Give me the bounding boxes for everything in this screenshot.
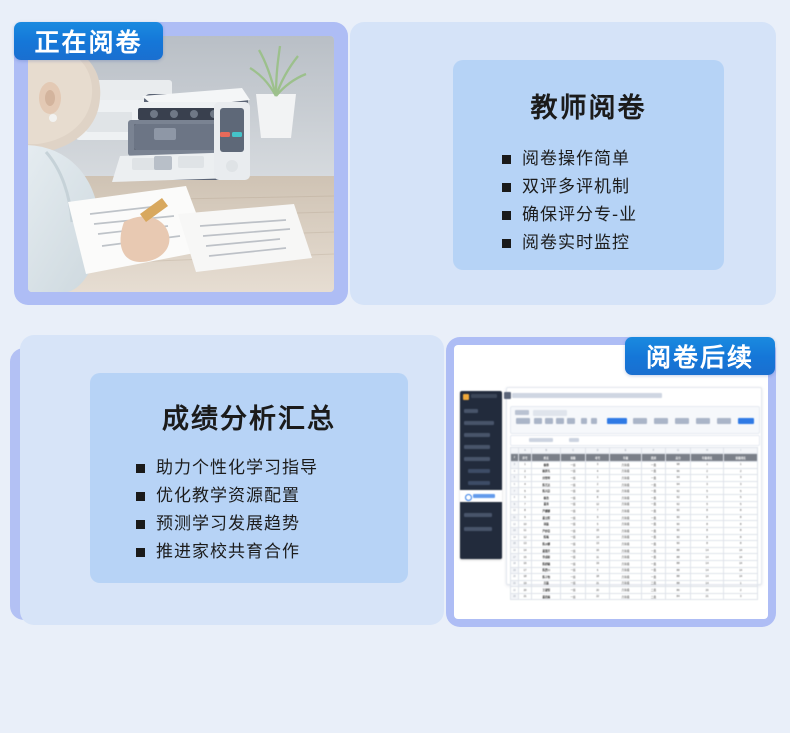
list-item-label: 预测学习发展趋势 [156,512,300,537]
table-cell[interactable]: 15 [585,527,610,534]
table-row: 1311芦妙曼一班15六年级一类9088 [511,527,758,534]
table-cell[interactable]: 六年级 [610,527,641,534]
table-row: 1513陈沙娜一班13六年级一类9088 [511,541,758,548]
table-cell[interactable]: 1 [585,475,610,482]
teacher-grading-inner-box: 教师阅卷 阅卷操作简单 双评多评机制 确保评分专-业 阅卷实时监控 [453,60,724,270]
row-number: 18 [511,560,519,567]
table-cell[interactable]: 92 [666,494,691,501]
table-cell[interactable]: 2 [724,587,758,594]
table-cell[interactable]: 刘雪琴 [532,475,561,482]
row-number: 17 [511,554,519,561]
table-cell[interactable]: 7 [518,501,531,508]
table-cell[interactable]: 14 [724,567,758,574]
row-number: 4 [511,468,519,475]
table-cell[interactable]: 1 [518,462,531,469]
table-cell[interactable]: 六年级 [610,574,641,581]
ribbon-toolbar [510,406,760,434]
after-reading-card: A B C D E F G H I [446,337,776,627]
table-cell[interactable]: 9 [518,514,531,521]
table-row: 1210胡磊一班5六年级一类9088 [511,521,758,528]
table-cell[interactable]: 一类 [641,481,666,488]
table-cell[interactable]: 5 [690,494,724,501]
table-cell[interactable]: 84 [666,593,691,600]
table-cell[interactable]: 9 [585,514,610,521]
table-cell[interactable]: 94 [666,481,691,488]
table-cell[interactable]: 陈震川 [532,567,561,574]
table-cell[interactable]: 6 [518,494,531,501]
table-row: 2018陈子怡一班18六年级一类881414 [511,574,758,581]
table-cell[interactable]: 六年级 [610,475,641,482]
table-cell[interactable]: 陈曦 [532,534,561,541]
table-cell[interactable]: 一类 [641,501,666,508]
table-body: 31杨倩一班3六年级一类981142杨梦凡一班4六年级一类962253刘雪琴一班… [511,462,758,600]
sidebar-item-exam[interactable] [464,421,494,425]
table-cell[interactable]: 芦妙曼 [532,527,561,534]
table-cell[interactable]: 一类 [641,521,666,528]
table-cell[interactable]: 董若楠 [532,593,561,600]
table-row: 64陈艺达一班2六年级一类9433 [511,481,758,488]
table-cell[interactable]: 14 [724,560,758,567]
sidebar-item-home[interactable] [464,409,478,413]
table-cell[interactable]: 3 [690,481,724,488]
table-row: 42杨梦凡一班4六年级一类9622 [511,468,758,475]
ribbon-tool-2[interactable] [545,418,553,424]
table-header-cell: 年级 [610,454,641,462]
table-cell[interactable]: 一班 [561,527,586,534]
table-cell[interactable]: 二类 [641,593,666,600]
table-cell[interactable]: 二类 [641,587,666,594]
list-item-label: 推进家校共育合作 [156,540,300,565]
table-cell[interactable]: 一班 [561,462,586,469]
table-cell[interactable]: 六年级 [610,541,641,548]
table-cell[interactable]: 8 [585,494,610,501]
ribbon-tab-start[interactable] [516,418,530,424]
table-cell[interactable]: 14 [518,547,531,554]
table-cell[interactable]: 13 [518,541,531,548]
table-cell[interactable]: 86 [666,587,691,594]
table-cell[interactable]: 14 [724,554,758,561]
table-cell[interactable]: 1 [690,462,724,469]
table-cell[interactable]: 二类 [641,580,666,587]
list-item-label: 助力个性化学习指导 [156,456,318,481]
table-cell[interactable]: 14 [690,560,724,567]
table-cell[interactable]: 杨梦凡 [532,468,561,475]
table-cell[interactable]: 一班 [561,534,586,541]
table-cell[interactable]: 六年级 [610,488,641,495]
list-item-label: 阅卷实时监控 [522,231,630,256]
table-row: 31杨倩一班3六年级一类9811 [511,462,758,469]
scanner-photo-illustration [28,36,334,292]
table-cell[interactable]: 8 [724,514,758,521]
table-cell[interactable]: 20 [518,587,531,594]
table-cell[interactable]: 90 [666,527,691,534]
table-cell[interactable]: 21 [690,593,724,600]
ribbon-tab-wps-ai[interactable] [738,418,754,424]
ribbon-tab-data[interactable] [696,418,710,424]
scanner-photo [28,36,334,292]
table-cell[interactable]: 8 [518,508,531,515]
teacher-grading-card: 教师阅卷 阅卷操作简单 双评多评机制 确保评分专-业 阅卷实时监控 [350,22,776,305]
table-cell[interactable]: 一班 [561,508,586,515]
table-row: 1715李成彬一班11六年级一类881414 [511,554,758,561]
table-cell[interactable]: 六年级 [610,587,641,594]
formula-bar[interactable] [510,435,760,446]
table-cell[interactable]: 18 [585,574,610,581]
table-cell[interactable]: 20 [585,587,610,594]
table-cell[interactable]: 2 [585,481,610,488]
table-cell[interactable]: 一班 [561,481,586,488]
table-cell[interactable]: 六年级 [610,580,641,587]
table-row: 108芦娜娜一班7六年级一类9088 [511,508,758,515]
fx-icon [569,438,579,442]
spreadsheet-sidebar-lower [460,503,502,559]
ribbon-tool-1[interactable] [534,418,542,424]
table-cell[interactable]: 94 [666,475,691,482]
table-cell[interactable]: 88 [666,560,691,567]
table-row: 2119吕磊一班21六年级二类88141 [511,580,758,587]
list-item: 阅卷操作简单 [502,147,724,172]
table-cell[interactable]: 3 [690,475,724,482]
table-cell[interactable]: 一班 [561,488,586,495]
table-cell[interactable]: 一班 [561,494,586,501]
table-cell[interactable]: 一班 [561,587,586,594]
table-row: 53刘雪琴一班1六年级一类9433 [511,475,758,482]
table-cell[interactable]: 董青 [532,501,561,508]
table-cell[interactable]: 六年级 [610,547,641,554]
table-cell[interactable]: 8 [724,534,758,541]
table-cell[interactable]: 8 [724,521,758,528]
sidebar-item-settings[interactable] [464,513,492,517]
sidebar-item-grade[interactable] [464,445,490,449]
table-header-cell: 类别 [641,454,666,462]
table-row: 86杨浩一班8六年级一类9255 [511,494,758,501]
table-cell[interactable]: 六年级 [610,514,641,521]
table-cell[interactable]: 14 [585,534,610,541]
table-cell[interactable]: 一类 [641,527,666,534]
table-cell[interactable]: 六年级 [610,521,641,528]
list-item-label: 确保评分专-业 [522,203,637,228]
sidebar-title [471,394,497,398]
row-number: 14 [511,534,519,541]
table-cell[interactable]: 15 [518,554,531,561]
table-cell[interactable]: 六年级 [610,462,641,469]
score-analysis-card: 成绩分析汇总 助力个性化学习指导 优化教学资源配置 预测学习发展趋势 推进家校共… [20,335,444,625]
table-cell[interactable]: 董立辉 [532,514,561,521]
table-cell[interactable]: 2 [518,468,531,475]
table-header-cell: 班级排名 [724,454,758,462]
table-cell[interactable]: 六年级 [610,508,641,515]
table-cell[interactable]: 一类 [641,475,666,482]
ribbon-tool-6[interactable] [591,418,597,424]
row-number: 7 [511,488,519,495]
table-cell[interactable]: 8 [724,541,758,548]
table-cell[interactable]: 一班 [561,554,586,561]
list-item: 助力个性化学习指导 [136,456,408,481]
sidebar-item-report[interactable] [464,457,490,461]
table-cell[interactable]: 88 [666,567,691,574]
table-cell[interactable]: 一类 [641,541,666,548]
table-cell[interactable]: 8 [690,514,724,521]
row-number: 21 [511,580,519,587]
table-cell[interactable]: 3 [724,593,758,600]
table-cell[interactable]: 陈沙娜 [532,541,561,548]
table-cell[interactable]: 4 [585,468,610,475]
table-row: 1614董慧芹一班16六年级一类881414 [511,547,758,554]
row-number: 12 [511,521,519,528]
table-cell[interactable]: 一班 [561,475,586,482]
font-name-label [515,410,529,415]
table-cell[interactable]: 一班 [561,541,586,548]
sidebar-subitem-overview[interactable] [468,469,490,473]
table-cell[interactable]: 14 [690,554,724,561]
row-number: 23 [511,593,519,600]
table-cell[interactable]: 六年级 [610,560,641,567]
row-number: 16 [511,547,519,554]
table-header-cell: 总分 [666,454,691,462]
table-cell[interactable]: 一班 [561,521,586,528]
table-cell[interactable]: 14 [690,574,724,581]
table-cell[interactable]: 14 [690,580,724,587]
table-cell[interactable]: 一班 [561,514,586,521]
list-item: 优化教学资源配置 [136,484,408,509]
table-cell[interactable]: 六年级 [610,501,641,508]
table-cell[interactable]: 六年级 [610,481,641,488]
table-cell[interactable]: 7 [585,508,610,515]
table-cell[interactable]: 8 [724,508,758,515]
table-cell[interactable]: 吕磊 [532,580,561,587]
table-cell[interactable]: 一班 [561,574,586,581]
bullet-square-icon [502,155,511,164]
table-cell[interactable]: 2 [690,468,724,475]
table-cell[interactable]: 96 [666,468,691,475]
list-item: 预测学习发展趋势 [136,512,408,537]
table-row: 119董立辉一班9六年级一类9088 [511,514,758,521]
table-cell[interactable]: 12 [585,501,610,508]
ribbon-tab-formula[interactable] [675,418,689,424]
table-cell[interactable]: 21 [585,580,610,587]
table-cell[interactable]: 5 [690,488,724,495]
table-cell[interactable]: 一类 [641,534,666,541]
list-item-label: 阅卷操作简单 [522,147,630,172]
table-cell[interactable]: 5 [518,488,531,495]
table-cell[interactable]: 5 [585,521,610,528]
table-cell[interactable]: 一类 [641,567,666,574]
spreadsheet-screenshot: A B C D E F G H I [454,345,768,619]
sidebar-item-account[interactable] [464,527,492,531]
table-cell[interactable]: 一类 [641,508,666,515]
table-cell[interactable]: 一班 [561,560,586,567]
table-cell[interactable]: 14 [690,567,724,574]
table-cell[interactable]: 一班 [561,567,586,574]
table-cell[interactable]: 一类 [641,494,666,501]
table-cell[interactable]: 胡磊 [532,521,561,528]
table-cell[interactable]: 六年级 [610,494,641,501]
ribbon-tool-5[interactable] [581,418,587,424]
page-root: 正在阅卷 教师阅卷 阅卷操作简单 双评多评机制 确保评分专-业 阅卷实时监控 成… [0,0,790,733]
ribbon-tab-review[interactable] [717,418,731,424]
table-row: 1412陈曦一班14六年级一类9088 [511,534,758,541]
row-number: 20 [511,574,519,581]
table-cell[interactable]: 一类 [641,574,666,581]
table-row: 97董青一班12六年级一类9255 [511,501,758,508]
ribbon-tab-page[interactable] [654,418,668,424]
sidebar-item-subject-analysis[interactable] [460,490,502,502]
table-cell[interactable]: 16 [585,547,610,554]
ribbon-tool-3[interactable] [556,418,564,424]
table-cell[interactable]: 芦娜娜 [532,508,561,515]
table-cell[interactable]: 8 [690,534,724,541]
list-item: 推进家校共育合作 [136,540,408,565]
bullet-square-icon [136,492,145,501]
ribbon-tab-active[interactable] [607,418,627,424]
table-cell[interactable]: 8 [690,527,724,534]
table-row: 75陈兴豪一班10六年级一类9255 [511,488,758,495]
table-cell[interactable]: 六年级 [610,593,641,600]
table-cell[interactable]: 杨倩 [532,462,561,469]
table-cell[interactable]: 5 [690,501,724,508]
bullet-square-icon [502,239,511,248]
table-cell[interactable]: 一班 [561,547,586,554]
teacher-grading-bullets: 阅卷操作简单 双评多评机制 确保评分专-业 阅卷实时监控 [453,147,724,256]
table-cell[interactable]: 2 [724,468,758,475]
table-cell[interactable]: 5 [724,488,758,495]
app-logo-icon [463,394,469,400]
table-cell[interactable]: 3 [724,481,758,488]
table-cell[interactable]: 六年级 [610,534,641,541]
table-row: 2 序号 姓名 班级 考号 年级 类别 总分 年级排名 班级排名 [511,454,758,462]
table-cell[interactable]: 一班 [561,468,586,475]
table-cell[interactable]: 14 [724,547,758,554]
table-cell[interactable]: 8 [690,521,724,528]
name-box[interactable] [529,438,553,442]
list-item: 阅卷实时监控 [502,231,724,256]
row-number: 10 [511,508,519,515]
row-number: 19 [511,567,519,574]
table-cell[interactable]: 88 [666,554,691,561]
table-cell[interactable]: 88 [666,580,691,587]
table-cell[interactable]: 陈兴豪 [532,488,561,495]
badge-reading-now: 正在阅卷 [14,22,163,60]
table-cell[interactable]: 22 [585,593,610,600]
table-cell[interactable]: 王馨悦 [532,587,561,594]
table-cell[interactable]: 陈艺达 [532,481,561,488]
row-number: 13 [511,527,519,534]
table-cell[interactable]: 90 [666,514,691,521]
table-cell[interactable]: 董慧芹 [532,547,561,554]
table-cell[interactable]: 4 [518,481,531,488]
table-cell[interactable]: 21 [518,593,531,600]
table-cell[interactable]: 1 [724,580,758,587]
ribbon-tab-insert[interactable] [633,418,647,424]
font-name-select[interactable] [533,410,567,416]
table-cell[interactable]: 90 [666,541,691,548]
sidebar-subitem-class[interactable] [468,481,490,485]
table-cell[interactable]: 11 [585,554,610,561]
table-cell[interactable]: 一班 [561,593,586,600]
badge-after-reading: 阅卷后续 [625,337,775,375]
row-number: 15 [511,541,519,548]
table-cell[interactable]: 90 [666,534,691,541]
table-cell[interactable]: 六年级 [610,468,641,475]
ribbon-tool-4[interactable] [567,418,575,424]
spreadsheet-blur-layer: A B C D E F G H I [454,345,754,551]
table-cell[interactable]: 一类 [641,462,666,469]
table-cell[interactable]: 1 [724,462,758,469]
table-header-cell: 序号 [518,454,531,462]
chart-icon [465,494,472,501]
table-cell[interactable]: 88 [666,547,691,554]
table-cell[interactable]: 5 [724,501,758,508]
table-cell[interactable]: 19 [518,580,531,587]
sidebar-item-scan[interactable] [464,433,490,437]
table-cell[interactable]: 一班 [561,501,586,508]
table-cell[interactable]: 90 [666,521,691,528]
row-number: 11 [511,514,519,521]
table-cell[interactable]: 17 [518,567,531,574]
table-cell[interactable]: 8 [724,527,758,534]
table-cell[interactable]: 14 [724,574,758,581]
table-cell[interactable]: 一班 [561,580,586,587]
table-cell[interactable]: 3 [724,475,758,482]
table-cell[interactable]: 16 [518,560,531,567]
table-cell[interactable]: 3 [518,475,531,482]
table-cell[interactable]: 10 [518,521,531,528]
table-cell[interactable]: 13 [585,541,610,548]
table-cell[interactable]: 一类 [641,554,666,561]
row-number: 9 [511,501,519,508]
table-cell[interactable]: 李成彬 [532,554,561,561]
table-cell[interactable]: 杨浩 [532,494,561,501]
table-cell[interactable]: 92 [666,488,691,495]
row-number: 22 [511,587,519,594]
table-cell[interactable]: 6 [585,567,610,574]
table-cell[interactable]: 11 [518,527,531,534]
table-cell[interactable]: 12 [518,534,531,541]
table-cell[interactable]: 一类 [641,547,666,554]
table-cell[interactable]: 98 [666,462,691,469]
table-cell[interactable]: 20 [690,587,724,594]
row-number: 8 [511,494,519,501]
reading-photo-card [14,22,348,305]
table-cell[interactable]: 一类 [641,468,666,475]
table-cell[interactable]: 90 [666,508,691,515]
table-cell[interactable]: 3 [585,462,610,469]
table-cell[interactable]: 19 [585,560,610,567]
grid-icon [504,392,511,399]
table-cell[interactable]: 18 [518,574,531,581]
table-cell[interactable]: 六年级 [610,554,641,561]
table-cell[interactable]: 一类 [641,488,666,495]
score-analysis-bullets: 助力个性化学习指导 优化教学资源配置 预测学习发展趋势 推进家校共育合作 [90,456,408,565]
spreadsheet-app: A B C D E F G H I [460,387,760,593]
table-cell[interactable]: 8 [690,508,724,515]
score-analysis-title: 成绩分析汇总 [90,373,408,436]
bullet-square-icon [136,520,145,529]
table-cell[interactable]: 5 [724,494,758,501]
table-cell[interactable]: 88 [666,574,691,581]
table-cell[interactable]: 一类 [641,560,666,567]
table-cell[interactable]: 陈子怡 [532,574,561,581]
bullet-square-icon [136,464,145,473]
table-cell[interactable]: 陈妍毓 [532,560,561,567]
table-row: 1917陈震川一班6六年级一类881414 [511,567,758,574]
table-cell[interactable]: 8 [690,541,724,548]
table-cell[interactable]: 14 [690,547,724,554]
table-cell[interactable]: 92 [666,501,691,508]
table-cell[interactable]: 一类 [641,514,666,521]
table-cell[interactable]: 六年级 [610,567,641,574]
table-cell[interactable]: 10 [585,488,610,495]
